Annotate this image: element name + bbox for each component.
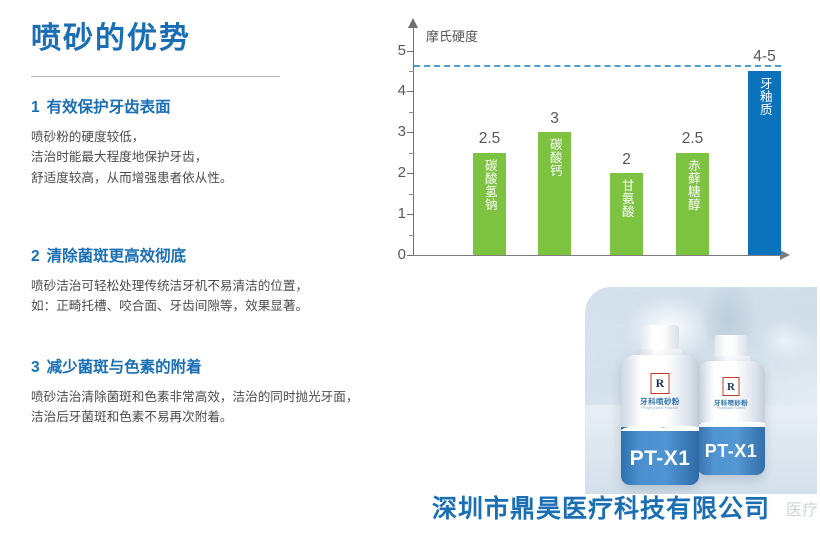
mohs-hardness-bar-chart: 摩氏硬度 012345 碳酸氢钠2.5碳酸钙3甘氨酸2赤藓糖醇2.5牙釉质4-5: [385, 8, 805, 276]
bar-碳酸钙: 碳酸钙3: [538, 132, 571, 255]
bar-甘氨酸: 甘氨酸2: [610, 173, 643, 255]
y-tick-0: [407, 255, 414, 256]
bar-value-牙釉质: 4-5: [735, 49, 795, 65]
bottle-cap: [715, 335, 748, 358]
y-tick-label-0: 0: [376, 247, 406, 262]
bar-value-碳酸氢钠: 2.5: [460, 131, 520, 147]
x-axis-arrow-icon: [780, 250, 790, 260]
section-1-heading: 1有效保护牙齿表面: [31, 100, 233, 116]
section-2-body: 喷砂洁治可轻松处理传统洁牙机不易清洁的位置， 如：正畸托槽、咬合面、牙齿间隙等，…: [31, 276, 308, 317]
bottle-cap: [641, 325, 679, 351]
product-bottle-front: R 牙科喷砂粉 Prophylaxis Powder PT-X1: [621, 325, 699, 485]
content-column: 喷砂的优势 1有效保护牙齿表面 喷砂粉的硬度较低， 洁治时能最大程度地保护牙齿，…: [0, 0, 390, 535]
product-photo: R 牙科喷砂粉 Prophylaxis Powder PT-X1 R 牙科喷砂粉…: [585, 287, 817, 494]
bar-label-甘氨酸: 甘氨酸: [619, 179, 634, 218]
section-2-number: 2: [31, 249, 40, 265]
bar-碳酸氢钠: 碳酸氢钠2.5: [473, 153, 506, 255]
section-1-line-1: 喷砂粉的硬度较低，: [31, 127, 233, 148]
section-3-body: 喷砂洁治清除菌斑和色素非常高效，洁治的同时抛光牙面， 洁治后牙菌斑和色素不易再次…: [31, 387, 358, 428]
bottle-product-code: PT-X1: [697, 441, 765, 462]
y-tick-1: [407, 214, 414, 215]
section-2-heading: 2清除菌斑更高效彻底: [31, 249, 308, 265]
section-2-title: 清除菌斑更高效彻底: [47, 248, 187, 265]
bar-赤藓糖醇: 赤藓糖醇2.5: [676, 153, 709, 255]
y-tick-label-1: 1: [376, 206, 406, 221]
slide-page: 喷砂的优势 1有效保护牙齿表面 喷砂粉的硬度较低， 洁治时能最大程度地保护牙齿，…: [0, 0, 820, 535]
y-tick-4: [407, 91, 414, 92]
y-tick-3: [407, 132, 414, 133]
bottle-body: R 牙科喷砂粉 Prophylaxis Powder PT-X1: [697, 361, 765, 475]
watermark-text: 医疗: [786, 496, 818, 520]
y-tick-label-4: 4: [376, 83, 406, 98]
section-1: 1有效保护牙齿表面 喷砂粉的硬度较低， 洁治时能最大程度地保护牙齿， 舒适度较高…: [31, 100, 233, 188]
section-3-line-1: 喷砂洁治清除菌斑和色素非常高效，洁治的同时抛光牙面，: [31, 387, 358, 408]
page-title: 喷砂的优势: [31, 24, 191, 54]
y-tick-label-5: 5: [376, 43, 406, 58]
brand-logo-icon: R: [723, 377, 740, 396]
section-3-title: 减少菌斑与色素的附着: [47, 359, 202, 376]
bottle-body: R 牙科喷砂粉 Prophylaxis Powder PT-X1: [621, 355, 699, 485]
y-tick-2: [407, 173, 414, 174]
bottle-wave-graphic: [621, 422, 699, 431]
section-3: 3减少菌斑与色素的附着 喷砂洁治清除菌斑和色素非常高效，洁治的同时抛光牙面， 洁…: [31, 360, 358, 428]
company-name: 深圳市鼎昊医疗科技有限公司: [432, 489, 770, 525]
section-2-line-2: 如：正畸托槽、咬合面、牙齿间隙等，效果显著。: [31, 296, 308, 317]
section-2: 2清除菌斑更高效彻底 喷砂洁治可轻松处理传统洁牙机不易清洁的位置， 如：正畸托槽…: [31, 249, 308, 317]
chart-plot-area: 碳酸氢钠2.5碳酸钙3甘氨酸2赤藓糖醇2.5牙釉质4-5: [414, 26, 781, 255]
bar-value-甘氨酸: 2: [597, 152, 657, 168]
section-1-line-3: 舒适度较高，从而增强患者依从性。: [31, 168, 233, 189]
product-bottle-back: R 牙科喷砂粉 Prophylaxis Powder PT-X1: [697, 335, 765, 475]
brand-logo-icon: R: [651, 373, 670, 394]
bar-label-碳酸氢钠: 碳酸氢钠: [482, 159, 497, 211]
bar-label-牙釉质: 牙釉质: [757, 77, 772, 116]
section-1-number: 1: [31, 100, 40, 116]
bar-label-碳酸钙: 碳酸钙: [547, 138, 562, 177]
section-3-line-2: 洁治后牙菌斑和色素不易再次附着。: [31, 407, 358, 428]
bar-label-赤藓糖醇: 赤藓糖醇: [685, 159, 700, 211]
bar-牙釉质: 牙釉质4-5: [748, 71, 781, 255]
section-3-heading: 3减少菌斑与色素的附着: [31, 360, 358, 376]
bottle-wave-graphic: [697, 418, 765, 427]
bottle-product-code: PT-X1: [621, 447, 699, 471]
bottle-label-en: Prophylaxis Powder: [621, 406, 699, 410]
bottle-label-en: Prophylaxis Powder: [697, 406, 765, 410]
y-tick-label-2: 2: [376, 165, 406, 180]
section-1-title: 有效保护牙齿表面: [47, 99, 171, 116]
title-divider: [31, 76, 280, 77]
y-tick-5: [407, 51, 414, 52]
bar-value-碳酸钙: 3: [525, 111, 585, 127]
y-tick-label-3: 3: [376, 124, 406, 139]
section-3-number: 3: [31, 360, 40, 376]
section-1-line-2: 洁治时能最大程度地保护牙齿，: [31, 147, 233, 168]
section-1-body: 喷砂粉的硬度较低， 洁治时能最大程度地保护牙齿， 舒适度较高，从而增强患者依从性…: [31, 127, 233, 189]
section-2-line-1: 喷砂洁治可轻松处理传统洁牙机不易清洁的位置，: [31, 276, 308, 297]
bar-value-赤藓糖醇: 2.5: [663, 131, 723, 147]
x-axis-line: [413, 255, 781, 256]
